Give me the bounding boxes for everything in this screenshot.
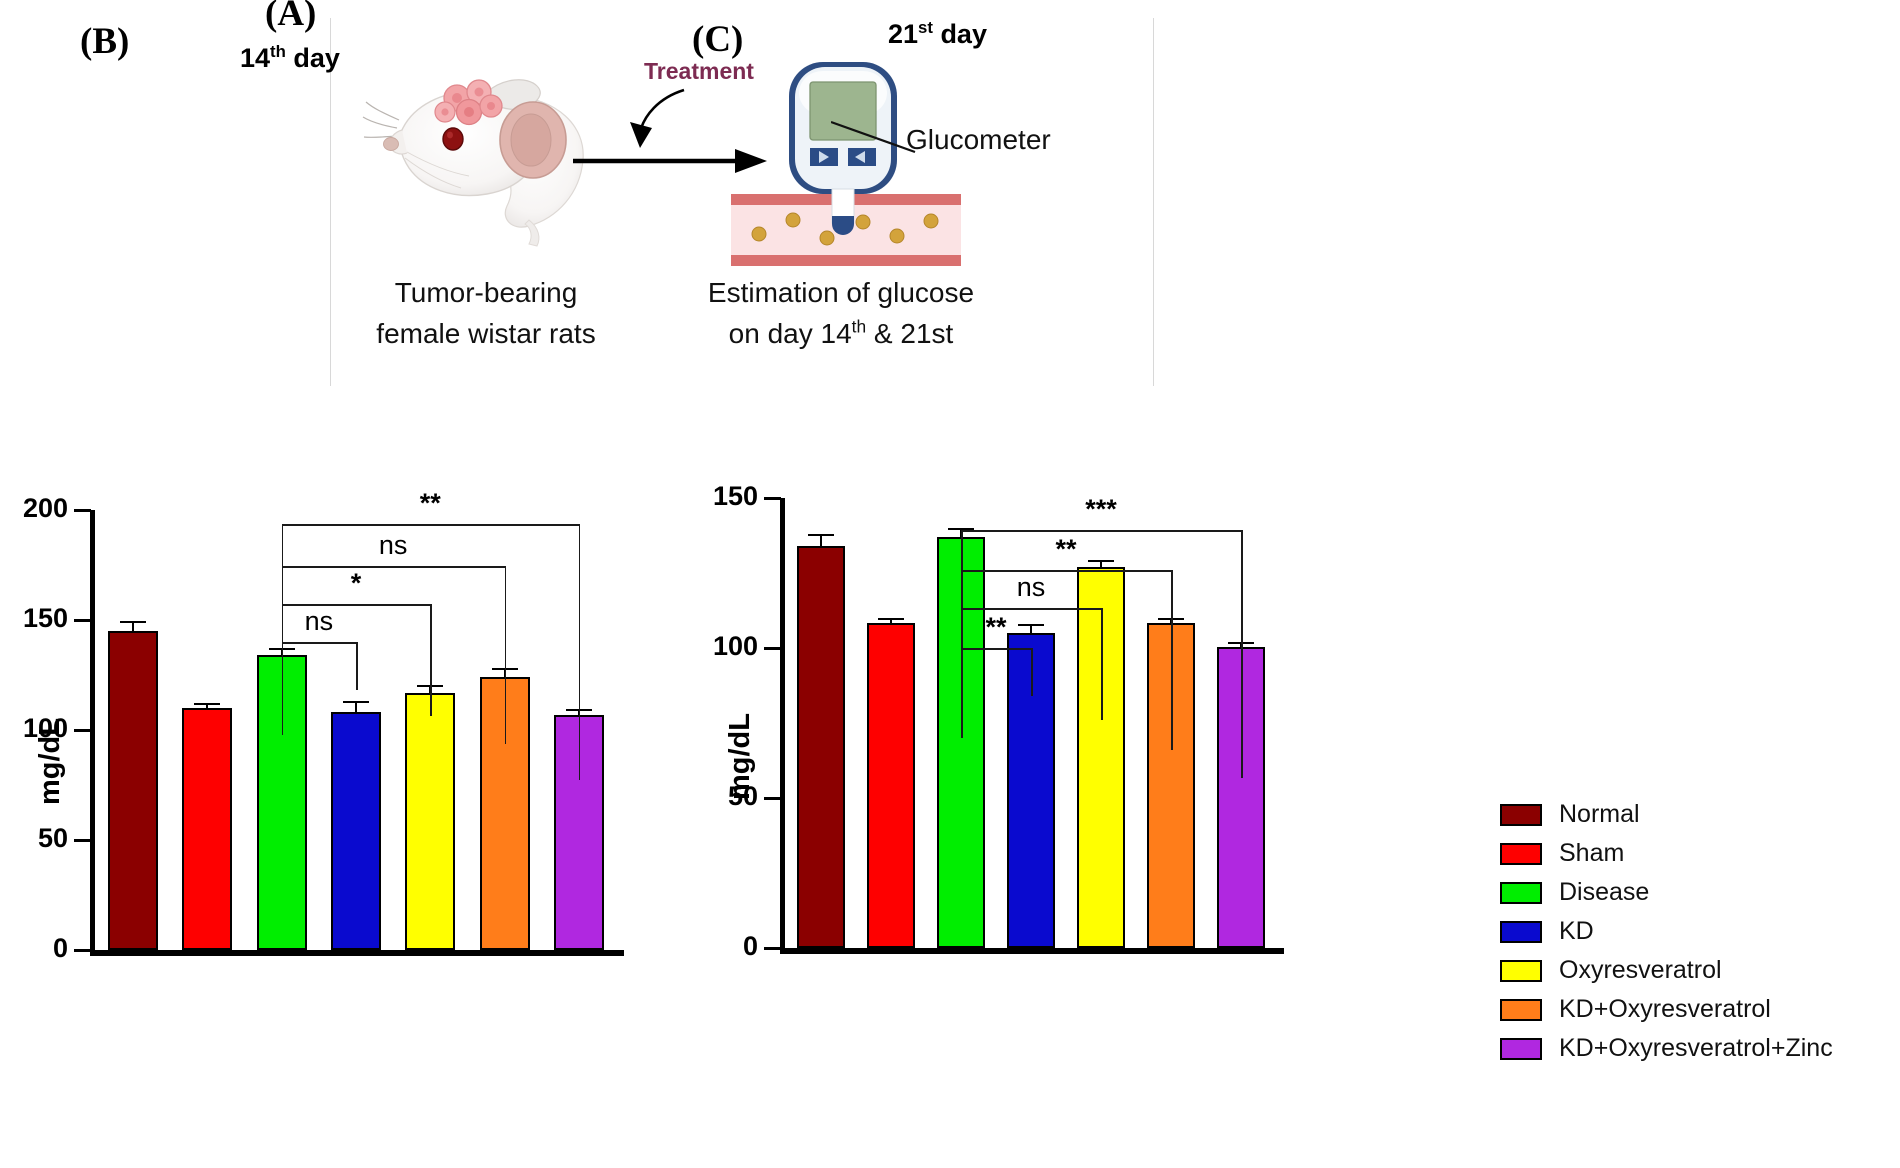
caption-day-post: & 21st [866,318,953,349]
significance-bracket-left [961,530,963,738]
y-tick-label: 0 [0,933,68,964]
legend-label-kd: KD [1559,917,1594,946]
error-bar-cap [878,618,904,620]
significance-bracket-right [1241,530,1243,778]
significance-bracket [282,604,431,606]
y-tick-mark [764,497,781,500]
error-bar-cap [194,703,220,705]
significance-bracket [961,648,1031,650]
chart-title-b-sup: th [270,42,286,61]
significance-bracket-left [282,524,284,735]
legend-label-normal: Normal [1559,800,1640,829]
y-tick-label: 100 [0,713,68,744]
legend-item: Sham [1500,834,1833,873]
chart-title-b-suffix: day [286,43,340,73]
significance-label: ** [936,612,1056,643]
caption-day-pre: on day 14 [729,318,852,349]
significance-bracket-right [505,566,507,744]
significance-bracket-right [356,642,358,690]
significance-label: *** [1041,494,1161,525]
caption-right: Estimation of glucose on day 14th & 21st [671,273,1011,354]
legend-item: KD+Oxyresveratrol+Zinc [1500,1029,1833,1068]
y-tick-label: 150 [0,603,68,634]
legend-label-kd-oxyresveratrol: KD+Oxyresveratrol [1559,995,1771,1024]
panel-b-letter: (B) [80,20,129,63]
y-tick-mark [74,729,91,732]
significance-label: * [296,568,416,599]
bar [797,546,845,948]
y-axis-line [780,498,785,948]
panel-c-chart: mg/dL 050100150**ns***** [690,440,1430,1168]
bar [331,712,381,950]
y-tick-mark [74,509,91,512]
panel-a-letter: (A) [265,0,316,35]
legend-item: Normal [1500,795,1833,834]
caption-left: Tumor-bearing female wistar rats [351,273,621,354]
significance-label: ** [370,488,490,519]
panel-c-letter: (C) [692,18,743,61]
y-tick-label: 200 [0,493,68,524]
legend-swatch-kd-oxyresveratrol-zinc [1500,1038,1542,1060]
caption-right-line1: Estimation of glucose [671,273,1011,314]
caption-right-line2: on day 14th & 21st [671,314,1011,355]
legend-label-sham: Sham [1559,839,1624,868]
legend-item: Disease [1500,873,1833,912]
y-tick-label: 100 [666,631,758,662]
panel-b-chart: mg/dL 050100150200ns*ns** [0,440,720,1168]
legend-swatch-sham [1500,843,1542,865]
caption-day-sup: th [852,316,866,336]
y-tick-mark [764,647,781,650]
bar [182,708,232,950]
legend-swatch-kd-oxyresveratrol [1500,999,1542,1021]
significance-bracket [961,570,1171,572]
plot-area-c: 050100150**ns***** [786,498,1276,948]
bar [867,623,915,949]
significance-label: ** [1006,534,1126,565]
significance-bracket [282,524,579,526]
significance-bracket-right [430,604,432,716]
significance-bracket-right [579,524,581,780]
legend-swatch-disease [1500,882,1542,904]
legend-item: KD+Oxyresveratrol [1500,990,1833,1029]
significance-bracket [961,530,1241,532]
significance-bracket [282,642,356,644]
legend-item: Oxyresveratrol [1500,951,1833,990]
chart-title-c-sup: st [918,18,933,37]
glucometer-label: Glucometer [906,124,1051,156]
significance-label: ns [971,572,1091,603]
error-bar-cap [808,534,834,536]
legend-label-oxyresveratrol: Oxyresveratrol [1559,956,1722,985]
legend-swatch-oxyresveratrol [1500,960,1542,982]
x-axis-line [90,950,624,956]
y-tick-mark [764,797,781,800]
chart-title-c-base: 21 [888,19,918,49]
legend-label-kd-oxyresveratrol-zinc: KD+Oxyresveratrol+Zinc [1559,1034,1833,1063]
y-tick-label: 50 [0,823,68,854]
chart-legend: Normal Sham Disease KD Oxyresveratrol KD… [1500,795,1833,1068]
schematic-container: Treatment [330,18,1154,386]
legend-item: KD [1500,912,1833,951]
significance-bracket [282,566,505,568]
y-tick-label: 150 [666,481,758,512]
bar [108,631,158,950]
significance-bracket-right [1171,570,1173,750]
chart-title-b-base: 14 [240,43,270,73]
y-tick-label: 0 [666,931,758,962]
legend-swatch-kd [1500,921,1542,943]
caption-left-line2: female wistar rats [351,314,621,355]
legend-swatch-normal [1500,804,1542,826]
error-bar-cap [120,621,146,623]
significance-bracket-right [1101,608,1103,720]
y-tick-mark [74,839,91,842]
x-axis-line [780,948,1284,954]
y-tick-mark [74,619,91,622]
bar [405,693,455,950]
y-tick-mark [74,949,91,952]
chart-title-c: 21st day [888,18,987,50]
glucometer-icon [731,56,961,276]
caption-left-line1: Tumor-bearing [351,273,621,314]
error-bar-cap [343,701,369,703]
significance-label: ns [259,606,379,637]
chart-title-c-suffix: day [933,19,987,49]
chart-title-b: 14th day [240,42,340,74]
significance-bracket [961,608,1101,610]
significance-label: ns [333,530,453,561]
legend-label-disease: Disease [1559,878,1649,907]
y-tick-label: 50 [666,781,758,812]
significance-bracket-right [1031,648,1033,696]
plot-area-b: 050100150200ns*ns** [96,510,616,950]
y-tick-mark [764,947,781,950]
